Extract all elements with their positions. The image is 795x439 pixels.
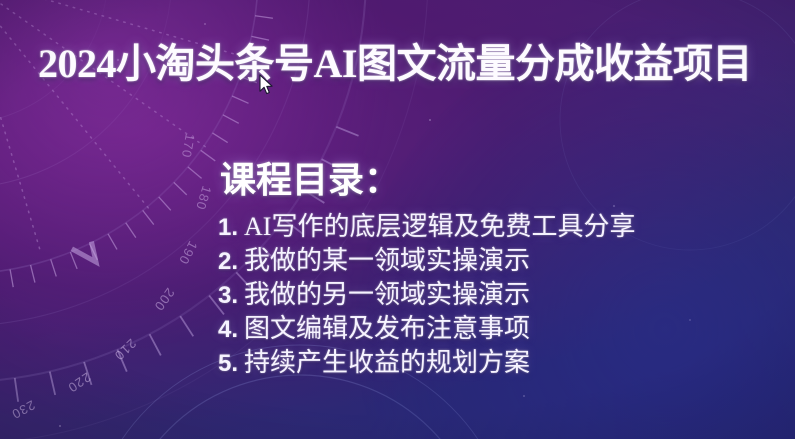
course-outline: 课程目录： 1. AI写作的底层逻辑及免费工具分享 2. 我做的某一领域实操演示…	[218, 158, 763, 380]
dial-chevron-marker	[74, 244, 96, 262]
list-item: 3. 我做的另一领域实操演示	[218, 278, 763, 312]
dial-label-190: 190	[176, 239, 201, 268]
poster-canvas: 170 180 190 200 210 220 230	[0, 0, 795, 439]
list-item-number: 4.	[218, 313, 238, 346]
list-item-label: 图文编辑及发布注意事项	[244, 312, 530, 345]
dial-label-210: 210	[111, 336, 139, 364]
outline-list: 1. AI写作的底层逻辑及免费工具分享 2. 我做的某一领域实操演示 3. 我做…	[218, 210, 763, 380]
dial-degree-labels: 170 180 190 200 210 220 230	[9, 132, 215, 422]
list-item: 2. 我做的某一领域实操演示	[218, 244, 763, 278]
list-item-label: 持续产生收益的规划方案	[244, 346, 530, 379]
dial-label-230: 230	[9, 397, 38, 422]
dial-dotted-spokes	[0, 0, 255, 260]
dial-label-180: 180	[193, 184, 215, 212]
list-item-number: 5.	[218, 347, 238, 380]
dial-label-200: 200	[151, 285, 178, 314]
list-item: 5. 持续产生收益的规划方案	[218, 346, 763, 380]
list-item: 4. 图文编辑及发布注意事项	[218, 312, 763, 346]
dial-label-220: 220	[65, 370, 94, 396]
list-item: 1. AI写作的底层逻辑及免费工具分享	[218, 210, 763, 244]
poster-title: 2024小淘头条号AI图文流量分成收益项目	[38, 40, 768, 88]
list-item-number: 2.	[218, 245, 238, 278]
outline-heading: 课程目录：	[220, 158, 763, 202]
list-item-label: 我做的某一领域实操演示	[244, 244, 530, 277]
list-item-label: AI写作的底层逻辑及免费工具分享	[244, 210, 635, 243]
list-item-number: 1.	[218, 211, 238, 244]
dial-label-170: 170	[179, 132, 198, 159]
list-item-number: 3.	[218, 279, 238, 312]
list-item-label: 我做的另一领域实操演示	[244, 278, 530, 311]
